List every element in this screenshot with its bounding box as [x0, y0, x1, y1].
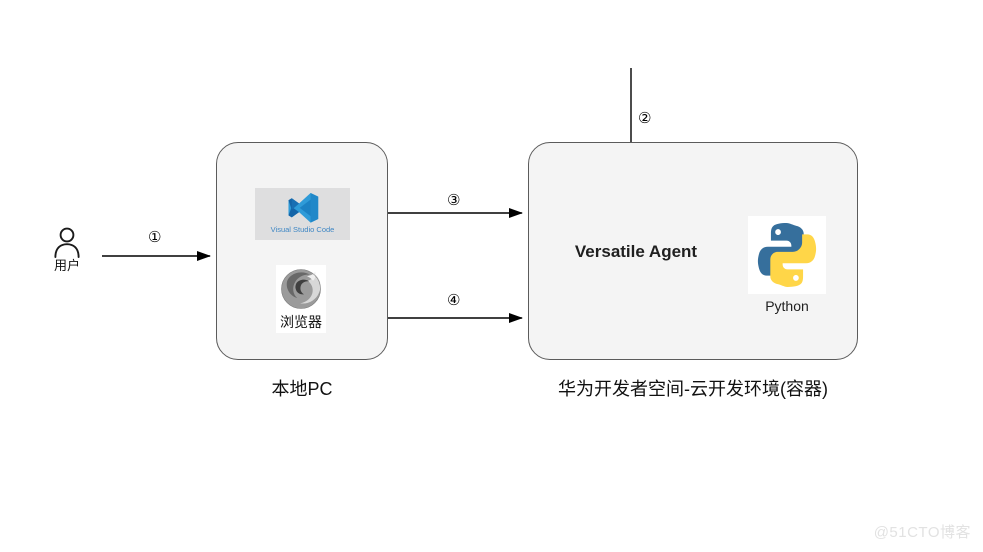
watermark: @51CTO博客 [874, 521, 971, 542]
python-logo-icon [748, 216, 826, 294]
node-local-pc-caption: 本地PC [216, 378, 388, 400]
app-tile-browser[interactable]: 浏览器 [276, 265, 326, 333]
app-tile-python-label: Python [765, 298, 809, 315]
edge-label-4: ④ [447, 292, 460, 310]
visual-studio-code-icon [284, 191, 322, 224]
diagram-canvas: 用户 Visual Studio Code 浏览器 本地PC [0, 0, 983, 552]
user-person-icon [51, 226, 83, 258]
actor-user-label: 用户 [40, 258, 94, 274]
firefox-browser-icon [277, 265, 325, 313]
app-tile-python[interactable]: Python [746, 216, 828, 321]
app-tile-vscode[interactable]: Visual Studio Code [255, 188, 350, 240]
app-tile-vscode-label: Visual Studio Code [271, 225, 335, 234]
edge-label-3: ③ [447, 192, 460, 210]
actor-user: 用户 [40, 226, 94, 274]
agent-title: Versatile Agent [528, 242, 744, 262]
edge-label-1: ① [148, 229, 161, 247]
app-tile-browser-label: 浏览器 [280, 314, 322, 331]
node-cloud-dev-env-caption: 华为开发者空间-云开发环境(容器) [528, 378, 858, 400]
edge-label-2: ② [638, 110, 651, 128]
